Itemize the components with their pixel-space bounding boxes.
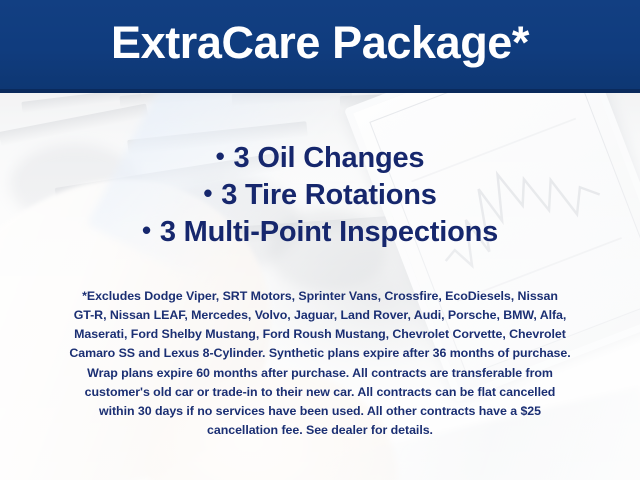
benefits-list: •3 Oil Changes •3 Tire Rotations •3 Mult… bbox=[0, 140, 640, 251]
bullet-icon: • bbox=[142, 214, 151, 247]
disclaimer-line: Wrap plans expire 60 months after purcha… bbox=[30, 364, 610, 383]
disclaimer-line: customer's old car or trade-in to their … bbox=[30, 383, 610, 402]
disclaimer-line: cancellation fee. See dealer for details… bbox=[30, 421, 610, 440]
benefit-item: •3 Oil Changes bbox=[0, 140, 640, 177]
legal-disclaimer: *Excludes Dodge Viper, SRT Motors, Sprin… bbox=[30, 287, 610, 440]
bullet-icon: • bbox=[216, 140, 225, 173]
disclaimer-line: within 30 days if no services have been … bbox=[30, 402, 610, 421]
header-divider bbox=[0, 89, 640, 93]
extracare-promo-banner: ExtraCare Package* •3 Oil Changes •3 Tir… bbox=[0, 0, 640, 480]
bullet-icon: • bbox=[203, 177, 212, 210]
disclaimer-line: *Excludes Dodge Viper, SRT Motors, Sprin… bbox=[30, 287, 610, 306]
benefit-label: 3 Multi-Point Inspections bbox=[160, 216, 498, 248]
benefit-item: •3 Multi-Point Inspections bbox=[0, 214, 640, 251]
disclaimer-line: GT-R, Nissan LEAF, Mercedes, Volvo, Jagu… bbox=[30, 306, 610, 325]
disclaimer-line: Camaro SS and Lexus 8-Cylinder. Syntheti… bbox=[30, 344, 610, 363]
disclaimer-line: Maserati, Ford Shelby Mustang, Ford Rous… bbox=[30, 325, 610, 344]
page-title: ExtraCare Package* bbox=[0, 0, 640, 89]
benefit-item: •3 Tire Rotations bbox=[0, 177, 640, 214]
benefit-label: 3 Oil Changes bbox=[234, 142, 425, 174]
benefit-label: 3 Tire Rotations bbox=[221, 179, 436, 211]
